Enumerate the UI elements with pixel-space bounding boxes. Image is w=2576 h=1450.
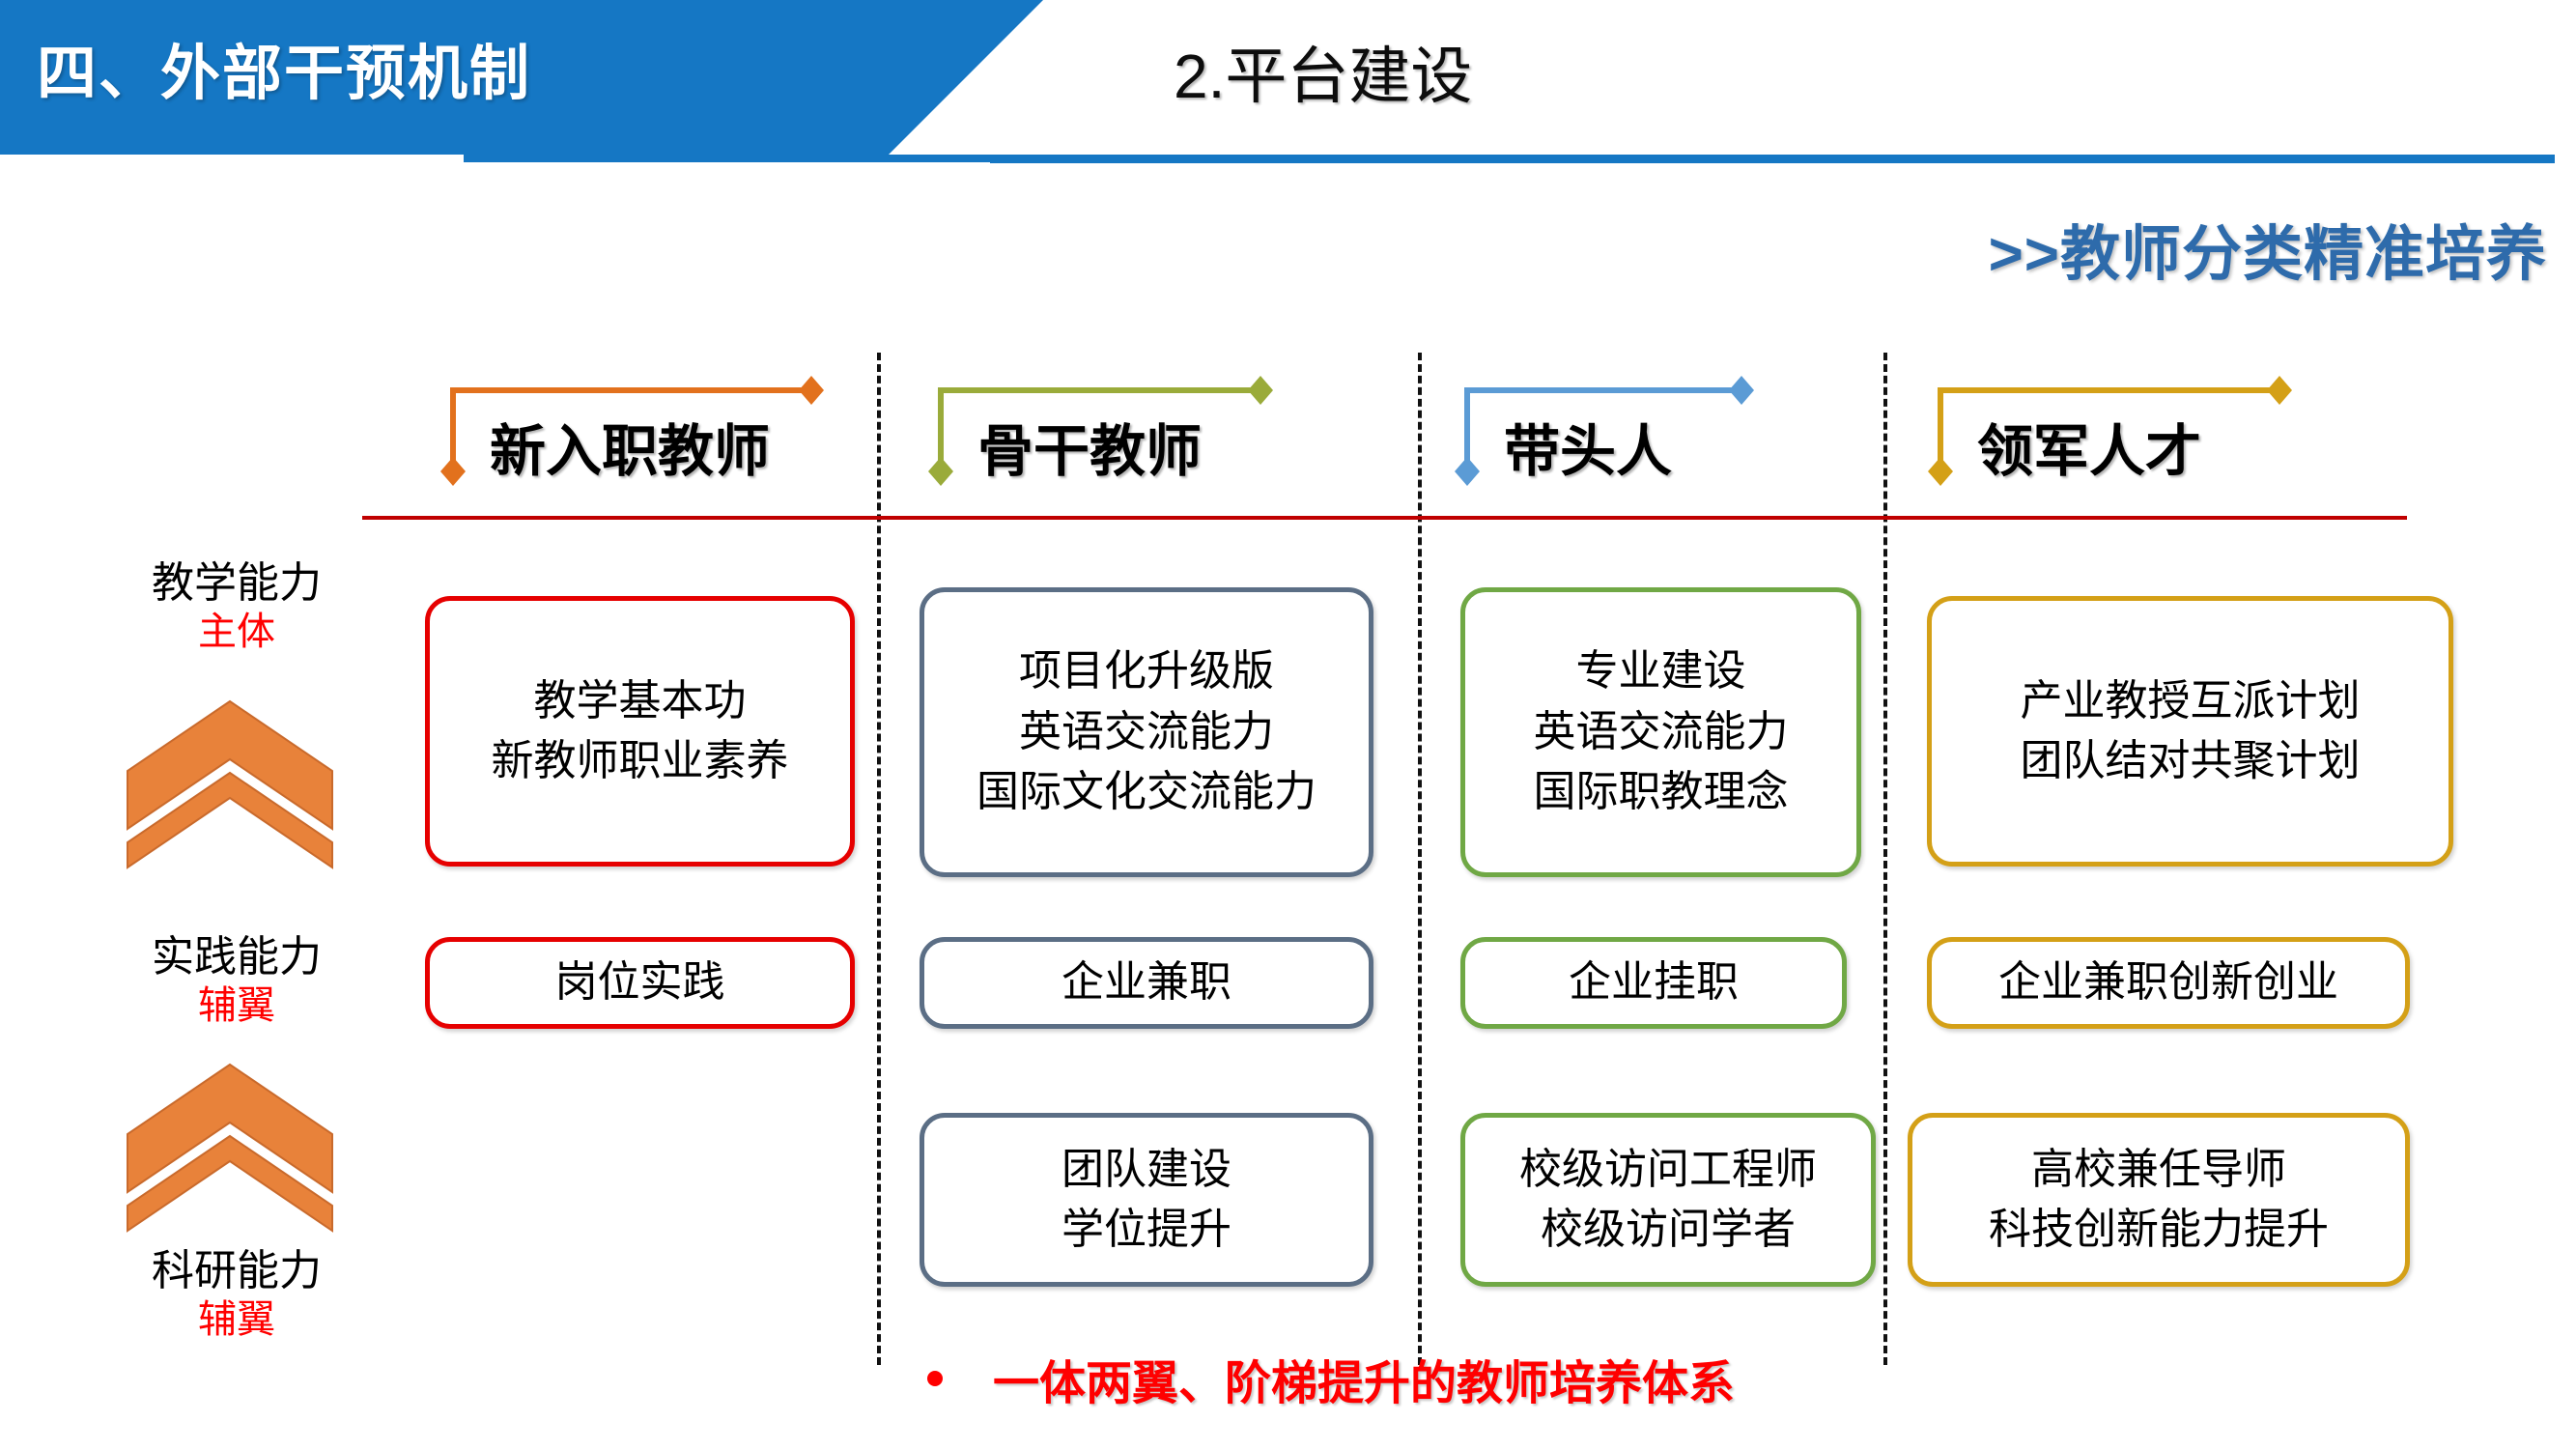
cell-box-r2c4[interactable]: 企业兼职创新创业 <box>1927 937 2410 1029</box>
chevron-up-icon-1 <box>124 697 336 871</box>
cell-box-r1c4[interactable]: 产业教授互派计划 团队结对共聚计划 <box>1927 596 2453 867</box>
row-label-practice-sub: 辅翼 <box>92 982 382 1028</box>
bottom-caption-text: 一体两翼、阶梯提升的教师培养体系 <box>993 1345 1735 1412</box>
bullet-icon <box>927 1371 943 1386</box>
row-label-teaching: 教学能力 主体 <box>92 558 382 654</box>
header-underline-left <box>464 155 1043 162</box>
cell-line: 产业教授互派计划 <box>2021 671 2361 731</box>
row-label-practice-main: 实践能力 <box>92 932 382 982</box>
column-header-label-3: 带头人 <box>1504 406 1672 487</box>
cell-box-r1c3[interactable]: 专业建设 英语交流能力 国际职教理念 <box>1460 587 1861 877</box>
cell-box-r3c3[interactable]: 校级访问工程师 校级访问学者 <box>1460 1113 1876 1287</box>
cell-box-r2c1[interactable]: 岗位实践 <box>425 937 855 1029</box>
cell-box-r1c2[interactable]: 项目化升级版 英语交流能力 国际文化交流能力 <box>920 587 1373 877</box>
cell-line: 企业兼职 <box>1062 952 1231 1012</box>
cell-line: 专业建设 <box>1576 641 1746 701</box>
cell-line: 国际职教理念 <box>1534 762 1789 822</box>
cell-line: 新教师职业素养 <box>492 731 789 791</box>
column-divider-3 <box>1883 353 1887 1365</box>
header-banner-title: 四、外部干预机制 <box>37 24 531 111</box>
cell-line: 学位提升 <box>1062 1200 1231 1260</box>
cell-box-r2c2[interactable]: 企业兼职 <box>920 937 1373 1029</box>
cell-line: 国际文化交流能力 <box>977 762 1316 822</box>
column-divider-1 <box>877 353 881 1365</box>
cell-line: 英语交流能力 <box>1019 702 1274 762</box>
column-header-3: 带头人 <box>1454 375 1772 500</box>
column-header-label-2: 骨干教师 <box>977 406 1202 487</box>
cell-line: 岗位实践 <box>555 952 725 1012</box>
cell-line: 项目化升级版 <box>1019 641 1274 701</box>
column-header-2: 骨干教师 <box>927 375 1294 500</box>
slide-root: 四、外部干预机制 2.平台建设 >>教师分类精准培养 新入职教师 骨干教师 带头 <box>0 0 2576 1450</box>
cell-line: 科技创新能力提升 <box>1989 1200 2329 1260</box>
cell-line: 校级访问学者 <box>1541 1200 1796 1260</box>
header-underline-right <box>990 155 2555 163</box>
page-subtitle: >>教师分类精准培养 <box>1989 205 2547 292</box>
section-title: 2.平台建设 <box>1174 27 1472 116</box>
cell-line: 团队建设 <box>1062 1140 1231 1200</box>
header-banner: 四、外部干预机制 <box>0 0 1043 155</box>
row-label-research: 科研能力 辅翼 <box>92 1246 382 1342</box>
cell-line: 校级访问工程师 <box>1519 1140 1817 1200</box>
chevron-up-icon-2 <box>124 1061 336 1235</box>
cell-box-r3c2[interactable]: 团队建设 学位提升 <box>920 1113 1373 1287</box>
column-header-4: 领军人才 <box>1927 375 2313 500</box>
cell-line: 高校兼任导师 <box>2031 1140 2286 1200</box>
column-divider-2 <box>1418 353 1422 1365</box>
row-label-research-sub: 辅翼 <box>92 1296 382 1342</box>
row-label-practice: 实践能力 辅翼 <box>92 932 382 1028</box>
cell-box-r3c4[interactable]: 高校兼任导师 科技创新能力提升 <box>1908 1113 2410 1287</box>
header-rule <box>362 516 2407 520</box>
row-label-teaching-main: 教学能力 <box>92 558 382 609</box>
cell-line: 英语交流能力 <box>1534 702 1789 762</box>
row-label-teaching-sub: 主体 <box>92 609 382 654</box>
cell-line: 企业兼职创新创业 <box>1998 952 2338 1012</box>
bottom-caption: 一体两翼、阶梯提升的教师培养体系 <box>927 1345 1735 1412</box>
column-header-1: 新入职教师 <box>439 375 845 500</box>
cell-line: 企业挂职 <box>1569 952 1739 1012</box>
column-header-label-4: 领军人才 <box>1977 406 2201 487</box>
row-label-research-main: 科研能力 <box>92 1246 382 1296</box>
column-header-label-1: 新入职教师 <box>490 406 770 487</box>
cell-box-r1c1[interactable]: 教学基本功 新教师职业素养 <box>425 596 855 867</box>
cell-line: 教学基本功 <box>534 671 747 731</box>
cell-line: 团队结对共聚计划 <box>2021 731 2361 791</box>
cell-box-r2c3[interactable]: 企业挂职 <box>1460 937 1847 1029</box>
